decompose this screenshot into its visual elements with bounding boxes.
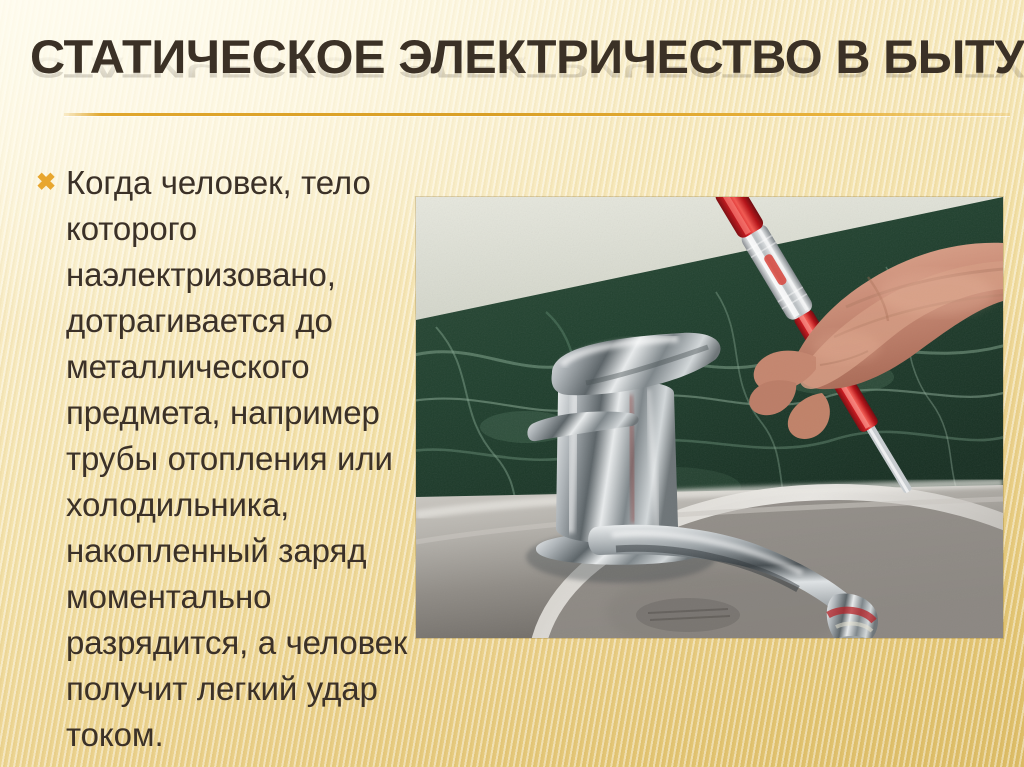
slide-title-block: Статическое электричество в быту Статиче… <box>30 30 1000 108</box>
cross-bullet-icon: ✖ <box>30 160 66 206</box>
photo-artwork <box>416 197 1003 638</box>
title-divider-line <box>64 113 1010 116</box>
content-text-block: ✖ Когда человек, тело которого наэлектри… <box>30 160 408 758</box>
slide-canvas: Статическое электричество в быту Статиче… <box>0 0 1024 767</box>
list-item: ✖ Когда человек, тело которого наэлектри… <box>30 160 408 758</box>
illustration-photo <box>416 197 1003 638</box>
page-title: Статическое электричество в быту <box>30 30 1024 84</box>
bullet-paragraph: Когда человек, тело которого наэлектризо… <box>66 160 408 758</box>
